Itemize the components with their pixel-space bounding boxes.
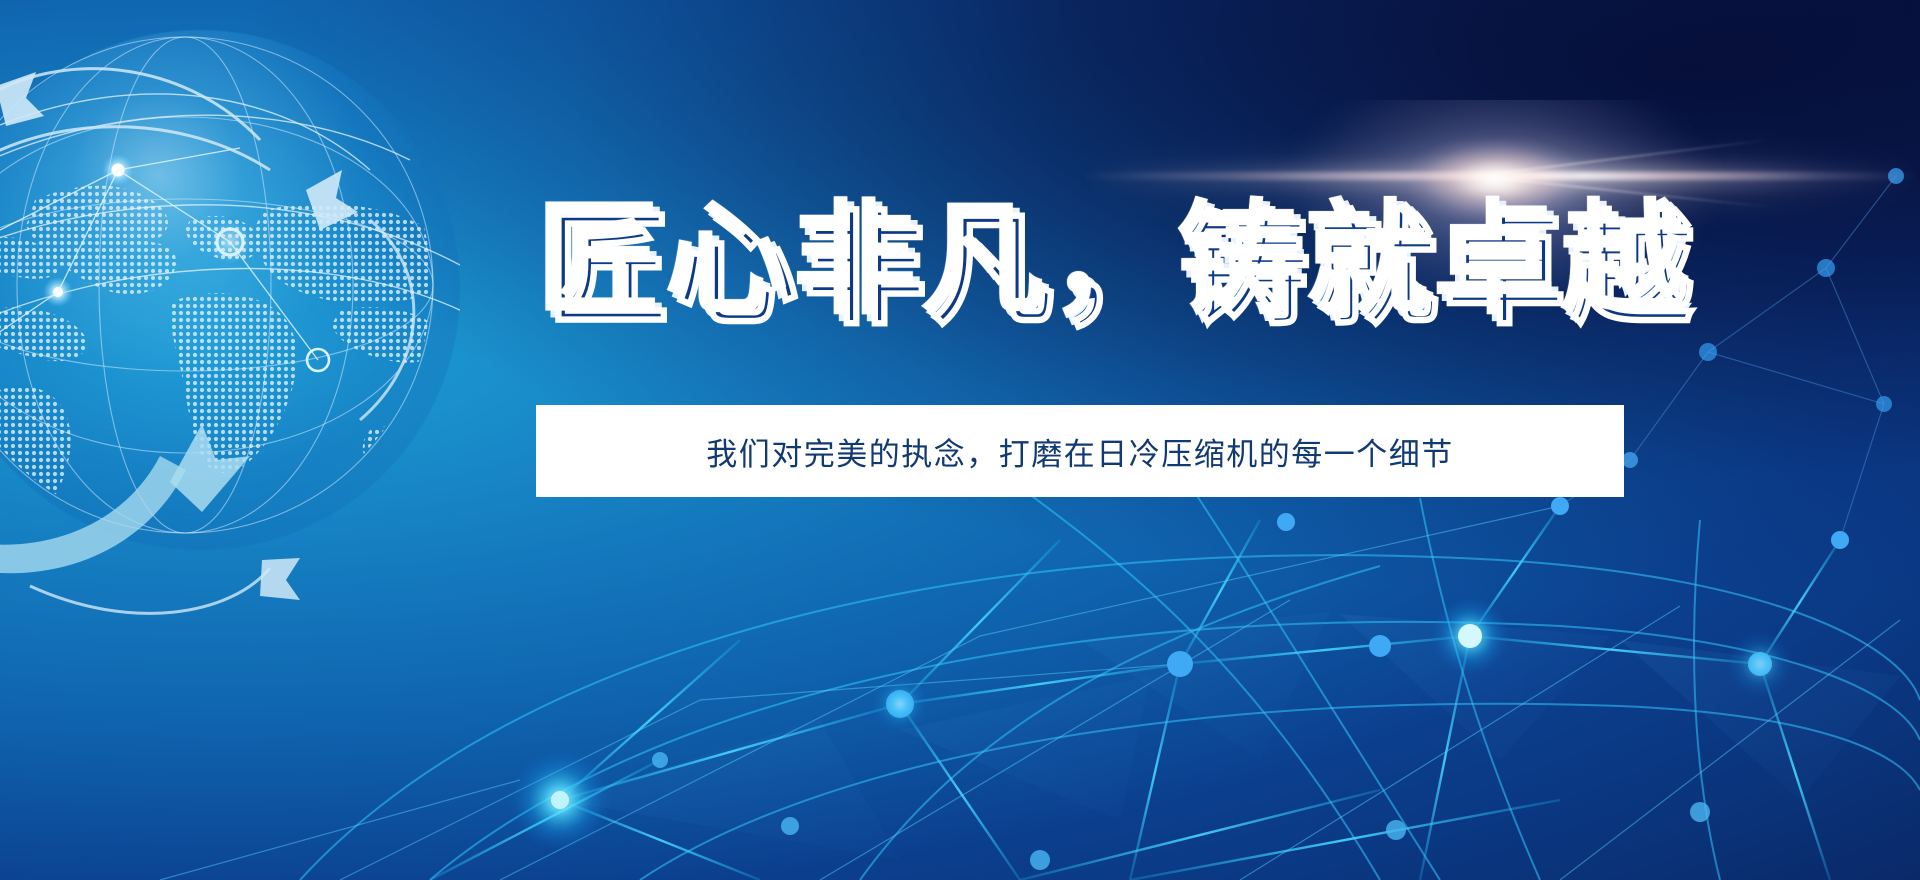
subtitle-bar: 我们对完美的执念，打磨在日冷压缩机的每一个细节 [536, 405, 1624, 497]
hero-banner: 匠心非凡，铸就卓越 匠心非凡，铸就卓越 匠心非凡，铸就卓越 我们对完美的执念，打… [0, 0, 1920, 880]
banner-headline: 匠心非凡，铸就卓越 匠心非凡，铸就卓越 匠心非凡，铸就卓越 [536, 198, 1688, 322]
subtitle-text: 我们对完美的执念，打磨在日冷压缩机的每一个细节 [706, 429, 1454, 474]
headline-text: 匠心非凡，铸就卓越 [536, 188, 1688, 332]
